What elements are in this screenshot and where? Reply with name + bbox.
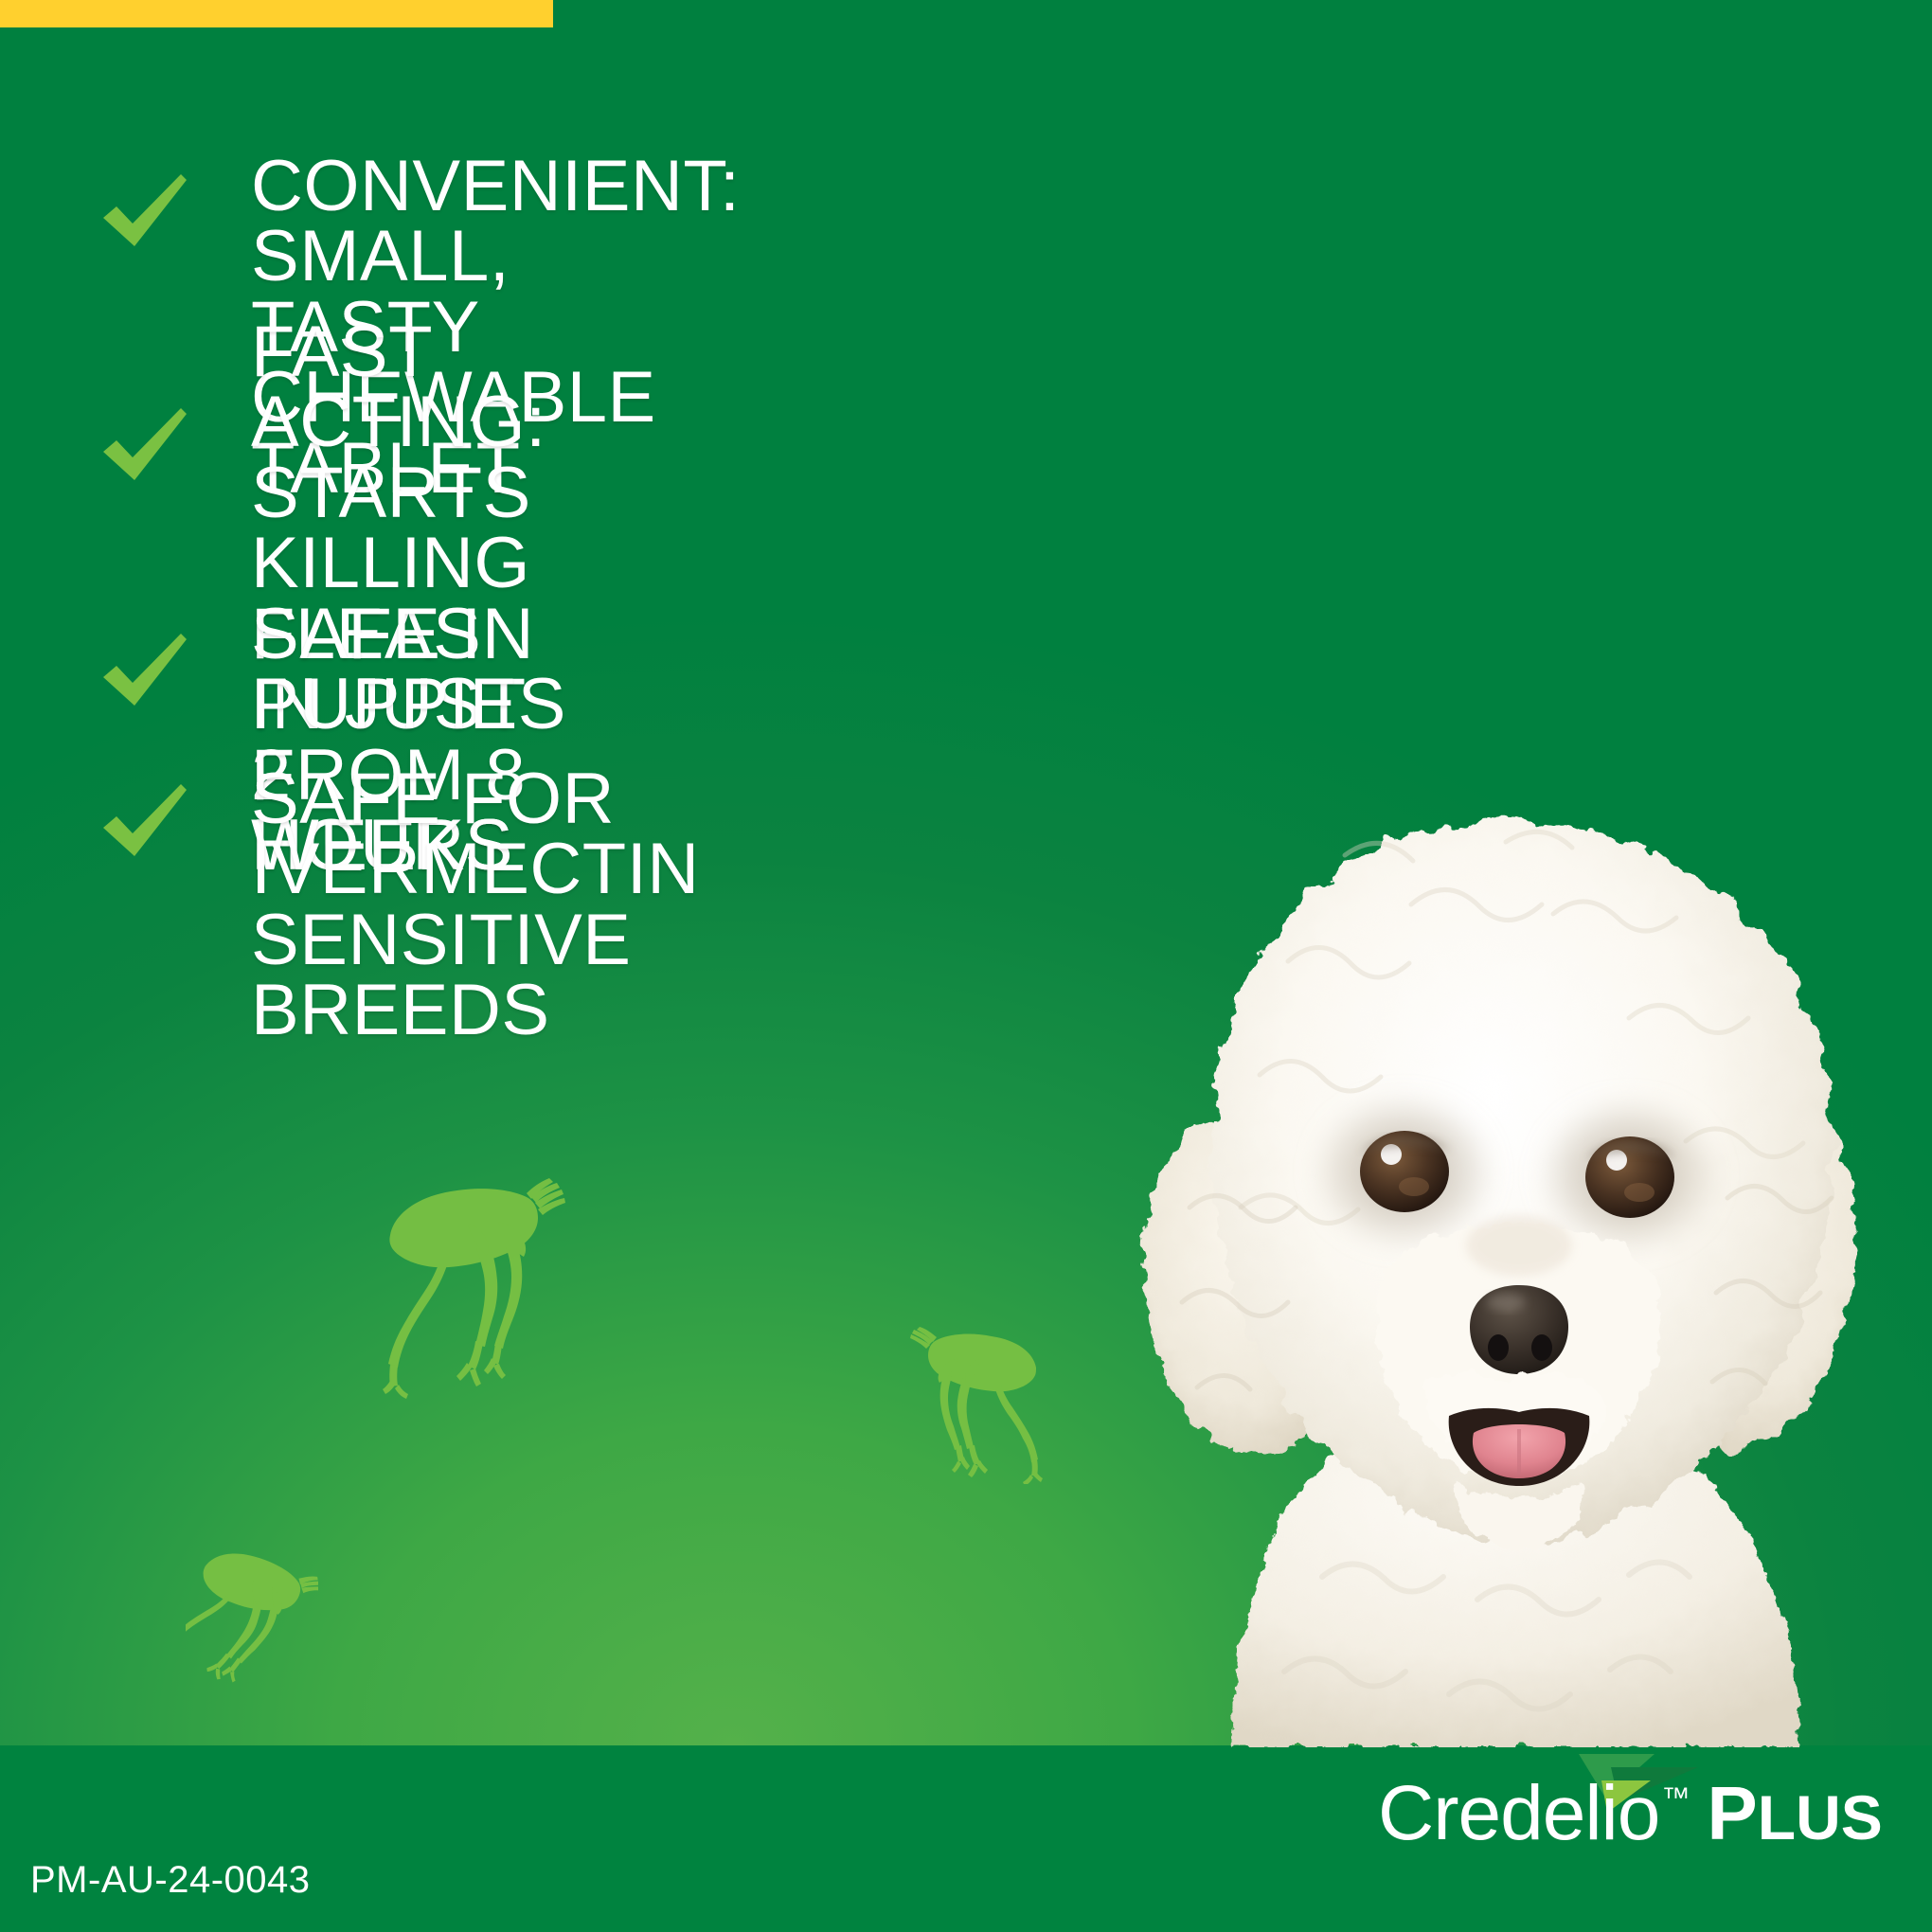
- benefit-label: SAFE FOR IVERMECTIN SENSITIVE BREEDS: [251, 764, 700, 1046]
- flea-silhouette-large: [377, 1167, 585, 1399]
- check-icon: [99, 778, 190, 869]
- credelio-wordmark: Credelio™PLUS: [1378, 1769, 1883, 1858]
- plus-rest: LUS: [1758, 1782, 1883, 1852]
- check-icon: [99, 628, 190, 719]
- trademark-symbol: ™: [1661, 1782, 1690, 1814]
- yellow-accent-tab: [0, 0, 553, 27]
- check-icon: [99, 402, 190, 493]
- promo-banner: CONVENIENT: SMALL, TASTY CHEWABLE TABLET…: [0, 0, 1932, 1932]
- credelio-plus-logo: Credelio™PLUS: [1378, 1763, 1908, 1887]
- flea-silhouette-small: [186, 1544, 318, 1686]
- wordmark-plus: PLUS: [1707, 1782, 1882, 1852]
- regulatory-code: PM-AU-24-0043: [30, 1859, 311, 1902]
- bichon-frise-dog-photo: [1099, 800, 1932, 1747]
- plus-initial: P: [1707, 1771, 1757, 1855]
- wordmark-credelio: Credelio: [1378, 1770, 1659, 1856]
- check-icon: [99, 169, 190, 259]
- flea-silhouette-medium: [894, 1318, 1046, 1484]
